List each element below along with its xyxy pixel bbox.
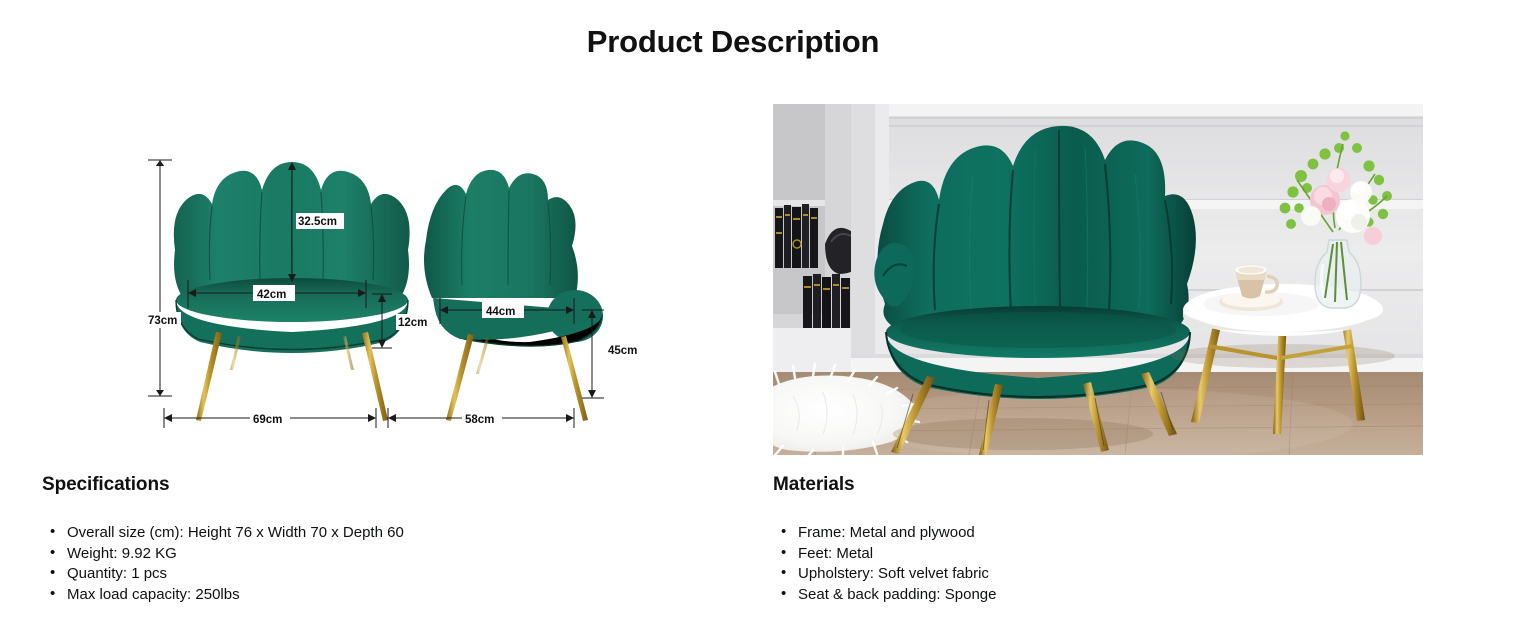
list-item: Frame: Metal and plywood <box>798 523 1373 543</box>
label-seat-depth: 44cm <box>486 306 515 318</box>
list-item: Feet: Metal <box>798 544 1373 564</box>
list-item: Weight: 9.92 KG <box>67 544 642 564</box>
chair-dimension-diagram: 73cm 32.5cm 42cm 12cm 44cm 45cm 69cm 58c… <box>120 120 640 450</box>
list-item: Seat & back padding: Sponge <box>798 585 1373 605</box>
left-column: 73cm 32.5cm 42cm 12cm 44cm 45cm 69cm 58c… <box>0 0 760 643</box>
label-seat-height: 45cm <box>608 345 637 357</box>
materials-list: Frame: Metal and plywood Feet: Metal Uph… <box>773 523 1373 606</box>
materials-heading: Materials <box>773 474 854 496</box>
list-item: Overall size (cm): Height 76 x Width 70 … <box>67 523 642 543</box>
label-total-height: 73cm <box>148 315 177 327</box>
list-item: Max load capacity: 250lbs <box>67 585 642 605</box>
list-item: Upholstery: Soft velvet fabric <box>798 564 1373 584</box>
specifications-list: Overall size (cm): Height 76 x Width 70 … <box>42 523 642 606</box>
side-view-chair <box>424 170 603 421</box>
label-front-width: 69cm <box>253 414 282 426</box>
list-item: Quantity: 1 pcs <box>67 564 642 584</box>
right-column: Materials Frame: Metal and plywood Feet:… <box>760 0 1537 643</box>
label-side-depth: 58cm <box>465 414 494 426</box>
label-back-height: 32.5cm <box>298 216 337 228</box>
product-room-photo <box>773 104 1423 455</box>
specifications-heading: Specifications <box>42 474 169 496</box>
label-seat-thickness: 12cm <box>398 317 427 329</box>
label-seat-width: 42cm <box>257 289 286 301</box>
